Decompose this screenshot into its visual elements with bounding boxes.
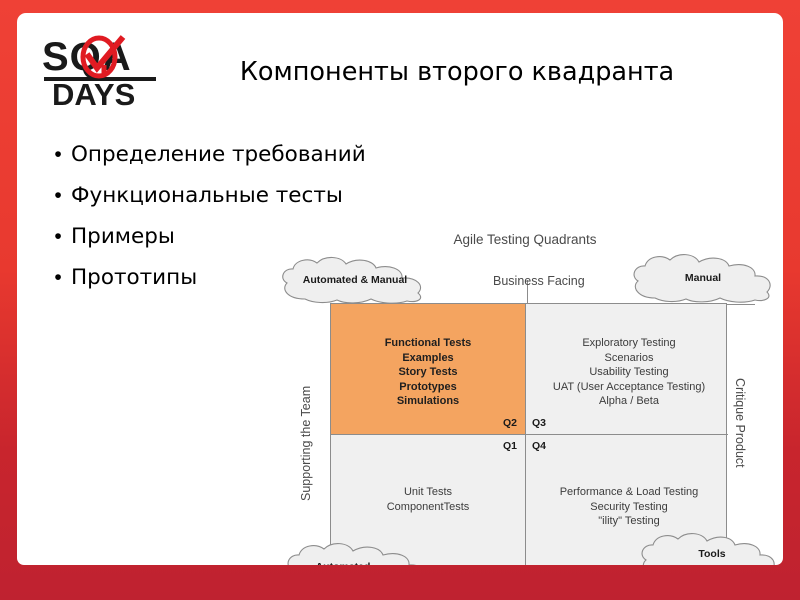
quadrant-q4-content: Performance & Load Testing Security Test…: [531, 485, 727, 529]
edge-label-left: Supporting the Team: [299, 386, 313, 501]
quadrant-q2-item: Examples: [341, 351, 515, 366]
bullet-marker: •: [45, 140, 71, 170]
cloud-label-top-right: Manual: [627, 252, 775, 304]
quadrant-label-q1: Q1: [503, 440, 517, 452]
quadrant-q3-item: Usability Testing: [531, 365, 727, 380]
slide-page: SQA DAYS Компоненты второго квадранта • …: [17, 13, 783, 565]
cloud-label-bottom-left: Automated: [280, 541, 438, 565]
diagram-title: Agile Testing Quadrants: [275, 232, 775, 247]
slide-frame: SQA DAYS Компоненты второго квадранта • …: [0, 0, 800, 600]
quadrant-q4-item: Security Testing: [531, 500, 727, 515]
quadrant-q3-item: Exploratory Testing: [531, 336, 727, 351]
quadrant-q4-item: Performance & Load Testing: [531, 485, 727, 500]
bullet-label: Функциональные тесты: [71, 181, 343, 211]
quadrant-q1-item: Unit Tests: [341, 485, 515, 500]
quadrant-label-q2: Q2: [503, 417, 517, 429]
quadrant-label-q3: Q3: [532, 417, 546, 429]
connector-top-right: [727, 304, 755, 305]
logo-days-text: DAYS: [52, 79, 135, 110]
quadrant-q3-content: Exploratory Testing Scenarios Usability …: [531, 336, 727, 409]
bullet-label: Прототипы: [71, 263, 197, 293]
quadrant-grid: Functional Tests Examples Story Tests Pr…: [330, 303, 727, 565]
quadrant-q2-item: Story Tests: [341, 365, 515, 380]
cloud-bottom-left: Automated: [280, 541, 438, 565]
quadrant-q1-content: Unit Tests ComponentTests: [341, 485, 515, 514]
quadrant-horizontal-divider: [331, 434, 728, 435]
edge-label-top: Business Facing: [493, 274, 585, 288]
bullet-marker: •: [45, 263, 71, 293]
quadrant-q1-item: ComponentTests: [341, 500, 515, 515]
check-mark-icon: [74, 35, 130, 81]
quadrant-q2-item: Functional Tests: [341, 336, 515, 351]
list-item: • Функциональные тесты: [45, 181, 395, 222]
edge-label-right: Critique Product: [733, 378, 747, 468]
bullet-label: Определение требований: [71, 140, 366, 170]
quadrant-q3-item: UAT (User Acceptance Testing): [531, 380, 727, 395]
quadrant-q3-item: Scenarios: [531, 351, 727, 366]
page-title: Компоненты второго квадранта: [177, 57, 737, 87]
agile-testing-quadrants-diagram: Agile Testing Quadrants Functional Tests…: [275, 218, 775, 565]
bullet-marker: •: [45, 222, 71, 252]
cloud-label-top-left: Automated & Manual: [275, 255, 435, 305]
bullet-marker: •: [45, 181, 71, 211]
quadrant-label-q4: Q4: [532, 440, 546, 452]
quadrant-q2-item: Simulations: [341, 394, 515, 409]
quadrant-q4-item: "ility" Testing: [531, 514, 727, 529]
quadrant-q2-item: Prototypes: [341, 380, 515, 395]
cloud-label-bottom-right: Tools: [635, 531, 779, 565]
quadrant-q2-content: Functional Tests Examples Story Tests Pr…: [341, 336, 515, 409]
cloud-top-right: Manual: [627, 252, 775, 304]
quadrant-q3-item: Alpha / Beta: [531, 394, 727, 409]
cloud-bottom-right: Tools: [635, 531, 779, 565]
sqa-days-logo: SQA DAYS: [42, 35, 160, 113]
bullet-label: Примеры: [71, 222, 175, 252]
cloud-top-left: Automated & Manual: [275, 255, 435, 305]
list-item: • Определение требований: [45, 140, 395, 181]
